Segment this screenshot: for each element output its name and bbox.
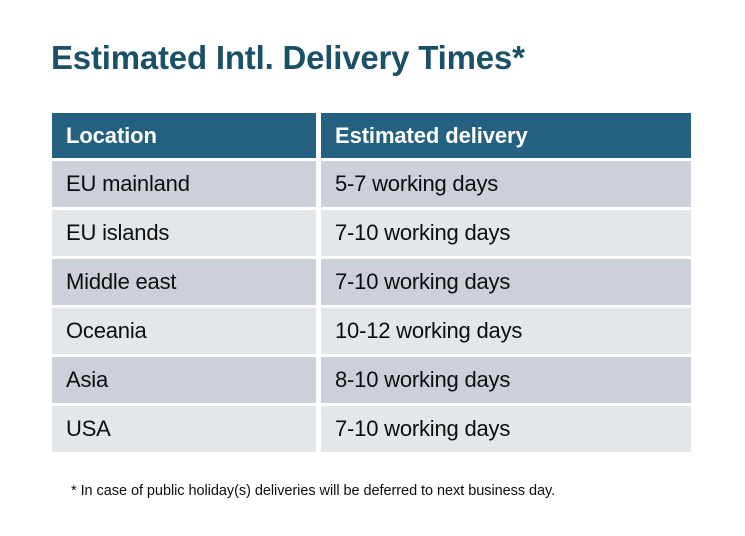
- delivery-times-table: Location Estimated delivery EU mainland …: [52, 113, 691, 452]
- delivery-times-page: Estimated Intl. Delivery Times* Location…: [0, 0, 745, 536]
- table-row: EU mainland 5-7 working days: [52, 161, 691, 207]
- cell-estimated-delivery: 8-10 working days: [321, 357, 691, 403]
- cell-estimated-delivery: 7-10 working days: [321, 210, 691, 256]
- cell-location: Oceania: [52, 308, 316, 354]
- table-row: Oceania 10-12 working days: [52, 308, 691, 354]
- column-header-location: Location: [52, 113, 316, 158]
- table-row: EU islands 7-10 working days: [52, 210, 691, 256]
- cell-location: EU islands: [52, 210, 316, 256]
- cell-location: Middle east: [52, 259, 316, 305]
- footnote-text: * In case of public holiday(s) deliverie…: [71, 481, 555, 501]
- cell-location: USA: [52, 406, 316, 452]
- cell-estimated-delivery: 5-7 working days: [321, 161, 691, 207]
- cell-location: Asia: [52, 357, 316, 403]
- table-row: Middle east 7-10 working days: [52, 259, 691, 305]
- page-title: Estimated Intl. Delivery Times*: [51, 38, 525, 78]
- table-header-row: Location Estimated delivery: [52, 113, 691, 158]
- column-header-estimated-delivery: Estimated delivery: [321, 113, 691, 158]
- cell-location: EU mainland: [52, 161, 316, 207]
- table-row: Asia 8-10 working days: [52, 357, 691, 403]
- cell-estimated-delivery: 7-10 working days: [321, 259, 691, 305]
- table-row: USA 7-10 working days: [52, 406, 691, 452]
- cell-estimated-delivery: 10-12 working days: [321, 308, 691, 354]
- cell-estimated-delivery: 7-10 working days: [321, 406, 691, 452]
